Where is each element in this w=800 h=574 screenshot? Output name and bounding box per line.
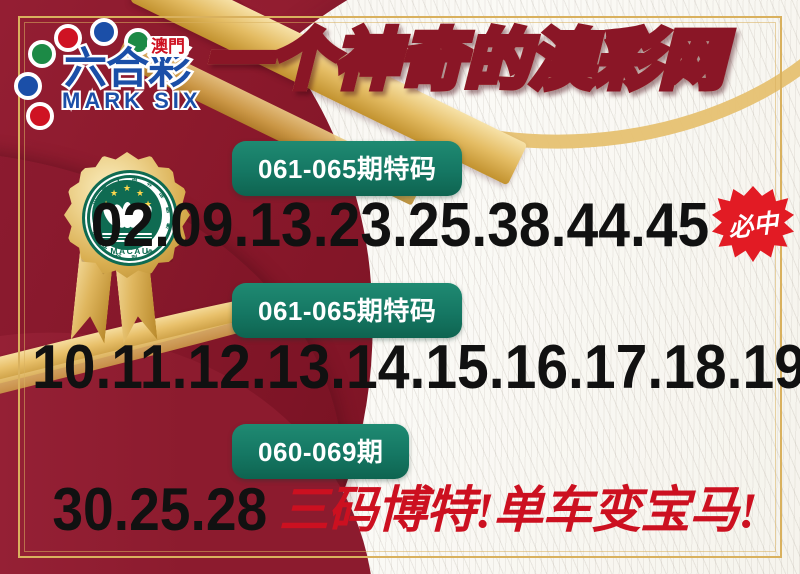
lottery-row-3: 30.25.28三码博特!单车变宝马! (0, 478, 800, 542)
logo-region-tag: 澳門 (147, 36, 189, 57)
promo-slogan: 三码博特!单车变宝马! (279, 482, 757, 538)
lottery-promo-banner: 六合彩 MARK SIX 澳門 一个神奇的澳彩网 一个神奇的澳彩网 ★ ★ ★ … (0, 0, 800, 574)
logo-brand-en: MARK SIX (62, 88, 202, 114)
lottery-numbers-row-2: 10.11.12.13.14.15.16.17.18.19 (32, 334, 768, 402)
logo-ball-blue-1 (90, 18, 118, 46)
emblem-circular-char: 人 (114, 175, 122, 185)
period-badge-1[interactable]: 061-065期特码 (232, 141, 462, 196)
period-badge-3[interactable]: 060-069期 (232, 424, 409, 479)
must-hit-label: 必中 (708, 181, 799, 266)
lottery-numbers-row-3: 30.25.28 (53, 478, 268, 542)
period-badge-2[interactable]: 061-065期特码 (232, 283, 462, 338)
mark-six-logo[interactable]: 六合彩 MARK SIX 澳門 (12, 14, 217, 110)
logo-ball-blue-2 (14, 72, 42, 100)
lottery-numbers-row-1: 02.09.13.23.25.38.44.45 (32, 192, 768, 260)
emblem-circular-char: 共 (145, 179, 155, 190)
logo-ball-green-1 (28, 40, 56, 68)
logo-ball-red-2 (26, 102, 54, 130)
page-title: 一个神奇的澳彩网 (205, 24, 725, 96)
emblem-circular-char: 民 (131, 174, 138, 184)
